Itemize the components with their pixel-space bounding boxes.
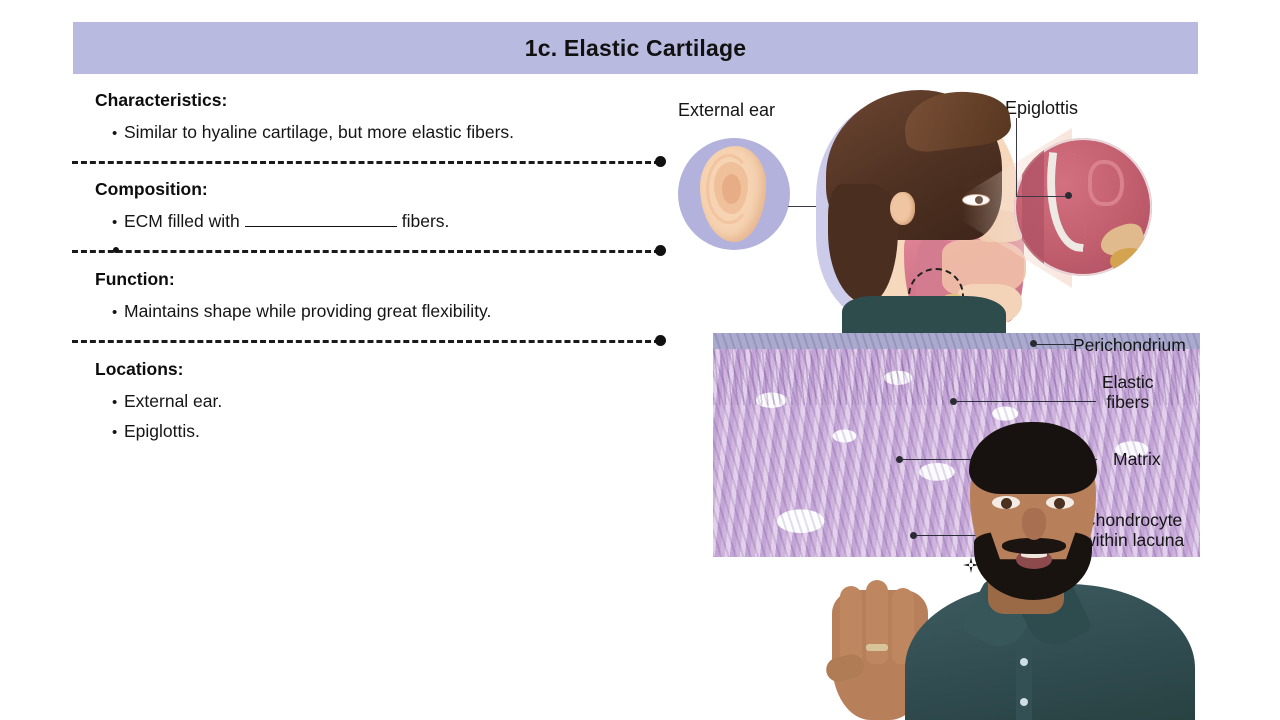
list-item-text: Maintains shape while providing great fl… [124,301,491,323]
list-item: • Similar to hyaline cartilage, but more… [112,122,672,144]
presenter-video-overlay[interactable] [820,420,1200,720]
list-item: • Maintains shape while providing great … [112,301,672,323]
presenter-nose [1022,508,1046,540]
anatomy-illustration: External ear Epiglottis [662,88,1202,333]
list-item: • ECM filled with fibers. [112,211,672,233]
section-heading: Composition: [95,179,672,200]
list-item-text: External ear. [124,391,222,413]
presenter-mustache [1002,538,1066,554]
list-item-text: Similar to hyaline cartilage, but more e… [124,122,514,144]
section-function: Function: • Maintains shape while provid… [72,269,672,323]
shirt-button [1020,698,1028,706]
epiglottis-leader-horizontal [1016,196,1068,197]
slide-canvas: 1c. Elastic Cartilage Characteristics: •… [0,0,1280,720]
epiglottis-cartilage [1088,160,1124,206]
presenter-iris-right [1054,498,1065,509]
bullet-icon: • [112,214,124,233]
list-item: • External ear. [112,391,672,413]
epiglottis-leader-dot [1065,192,1072,199]
finger-index [840,586,862,664]
list-item-text-after-blank: fibers. [402,211,450,233]
label-elastic-fibers: Elastic fibers [1102,372,1154,413]
section-characteristics: Characteristics: • Similar to hyaline ca… [72,90,672,144]
epiglottis-fold [1039,152,1093,252]
label-perichondrium: Perichondrium [1073,335,1186,355]
bullet-icon: • [112,125,124,144]
section-heading: Function: [95,269,672,290]
label-elastic-fibers-line2: fibers [1102,392,1154,412]
epiglottis-leader-vertical [1016,118,1017,196]
bullet-icon: • [112,424,124,443]
label-external-ear: External ear [678,100,775,121]
dashed-rule [72,340,660,343]
list-item: • Epiglottis. [112,421,672,443]
presenter-iris-left [1001,498,1012,509]
content-outline: Characteristics: • Similar to hyaline ca… [72,90,672,442]
epiglottis-inset-icon [1014,138,1152,276]
bullet-icon: • [112,394,124,413]
section-heading: Locations: [95,359,672,380]
slide-title-bar: 1c. Elastic Cartilage [73,22,1198,74]
section-composition: Composition: • ECM filled with fibers. [72,179,672,233]
section-divider-1 [72,161,672,162]
tongue-base-lower [1110,248,1150,274]
external-ear-inset-icon [678,138,790,250]
finger-ring-band [866,644,888,651]
shirt-button [1020,658,1028,666]
page-title: 1c. Elastic Cartilage [525,35,747,62]
dashed-rule [72,250,660,253]
label-elastic-fibers-line1: Elastic [1102,372,1154,392]
ear-canal [722,174,741,204]
list-item-text-before-blank: ECM filled with [124,211,240,233]
fill-in-blank[interactable] [245,212,397,227]
shirt-collar [842,296,1006,336]
elastic-fibers-leader-line [956,401,1096,402]
epiglottis-shade [1022,138,1044,276]
section-locations: Locations: • External ear. • Epiglottis. [72,359,672,443]
finger-middle [866,580,888,664]
list-item-text: Epiglottis. [124,421,200,443]
section-divider-2 [72,250,672,251]
dashed-rule [72,161,660,164]
section-divider-3 [72,340,672,341]
divider-end-dot [655,335,666,346]
section-heading: Characteristics: [95,90,672,111]
bullet-icon: • [112,304,124,323]
perichondrium-leader-line [1034,344,1074,345]
presenter-hair [969,422,1097,494]
head-ear [890,192,915,225]
